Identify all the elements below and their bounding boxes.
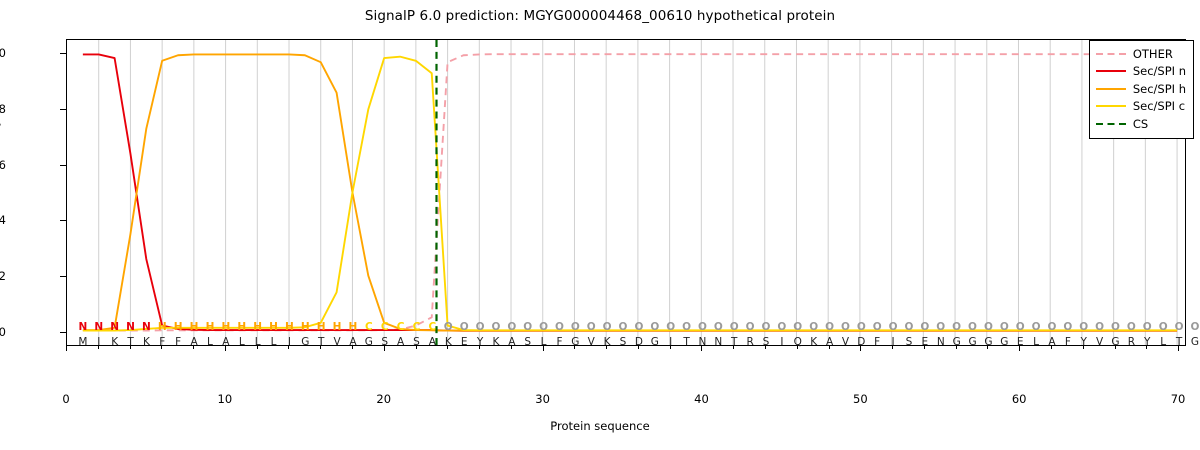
x-tick-mark — [1019, 346, 1020, 351]
sequence-region-marker: O — [777, 322, 786, 333]
sequence-residue: G — [984, 337, 992, 348]
x-minor-tick-mark — [924, 346, 925, 349]
sequence-region-marker: O — [793, 322, 802, 333]
sequence-residue: E — [922, 337, 929, 348]
sequence-region-marker: O — [920, 322, 929, 333]
sequence-region-marker: O — [889, 322, 898, 333]
x-minor-tick-mark — [765, 346, 766, 349]
x-minor-tick-mark — [416, 346, 417, 349]
sequence-region-marker: N — [78, 322, 87, 333]
sequence-region-marker: H — [285, 322, 294, 333]
sequence-residue: N — [699, 337, 707, 348]
sequence-residue: S — [620, 337, 627, 348]
sequence-region-marker: N — [94, 322, 103, 333]
y-tick-mark — [60, 53, 66, 54]
legend-item-label: OTHER — [1133, 47, 1173, 61]
sequence-residue: S — [413, 337, 420, 348]
sequence-region-marker: C — [381, 322, 389, 333]
sequence-residue: L — [239, 337, 245, 348]
sequence-residue: G — [365, 337, 373, 348]
sequence-region-marker: H — [333, 322, 342, 333]
x-minor-tick-mark — [447, 346, 448, 349]
sequence-region-marker: O — [1175, 322, 1184, 333]
sequence-residue: Q — [794, 337, 802, 348]
x-tick: 60 — [1012, 392, 1027, 406]
signalp-prediction-figure: SignalP 6.0 prediction: MGYG000004468_00… — [0, 0, 1200, 450]
sequence-region-marker: C — [429, 322, 437, 333]
x-minor-tick-mark — [956, 346, 957, 349]
sequence-residue: D — [857, 337, 865, 348]
sequence-region-marker: O — [1095, 322, 1104, 333]
sequence-residue: G — [1000, 337, 1008, 348]
sequence-region-marker: O — [619, 322, 628, 333]
sequence-residue: L — [207, 337, 213, 348]
sequence-residue: Y — [477, 337, 483, 348]
x-tick-mark — [701, 346, 702, 351]
sequence-region-marker: H — [253, 322, 262, 333]
sequence-residue: A — [429, 337, 436, 348]
sequence-residue: S — [381, 337, 388, 348]
sequence-residue: G — [301, 337, 309, 348]
sequence-residue: F — [874, 337, 880, 348]
sequence-residue: G — [1191, 337, 1199, 348]
sequence-residue: A — [349, 337, 356, 348]
x-minor-tick-mark — [892, 346, 893, 349]
sequence-region-marker: O — [1127, 322, 1136, 333]
legend-item-label: CS — [1133, 117, 1148, 131]
sequence-residue: S — [906, 337, 913, 348]
x-minor-tick-mark — [574, 346, 575, 349]
sequence-region-marker: O — [1111, 322, 1120, 333]
sequence-region-marker: O — [523, 322, 532, 333]
sequence-region-marker: O — [1047, 322, 1056, 333]
page-title: SignalP 6.0 prediction: MGYG000004468_00… — [0, 8, 1200, 24]
x-minor-tick-mark — [987, 346, 988, 349]
x-tick: 20 — [376, 392, 391, 406]
legend-item-label: Sec/SPI c — [1133, 99, 1185, 113]
sequence-region-marker: H — [174, 322, 183, 333]
legend-item-sec-spi-h[interactable]: Sec/SPI h — [1096, 80, 1186, 98]
sequence-region-marker: O — [1079, 322, 1088, 333]
sequence-region-marker: O — [539, 322, 548, 333]
sequence-residue: E — [1017, 337, 1024, 348]
x-minor-tick-mark — [288, 346, 289, 349]
sequence-residue: T — [318, 337, 324, 348]
sequence-residue: A — [222, 337, 229, 348]
sequence-residue: G — [968, 337, 976, 348]
sequence-region-marker: C — [365, 322, 373, 333]
sequence-region-marker: O — [762, 322, 771, 333]
sequence-region-marker: H — [158, 322, 167, 333]
y-tick: 0.4 — [0, 213, 6, 227]
sequence-residue: T — [1176, 337, 1182, 348]
sequence-region-marker: N — [126, 322, 135, 333]
sequence-residue: K — [445, 337, 452, 348]
x-minor-tick-mark — [670, 346, 671, 349]
sequence-residue: L — [255, 337, 261, 348]
x-minor-tick-mark — [638, 346, 639, 349]
sequence-residue: G — [651, 337, 659, 348]
sequence-region-marker: C — [413, 322, 421, 333]
x-tick: 10 — [218, 392, 233, 406]
x-minor-tick-mark — [606, 346, 607, 349]
x-tick-mark — [66, 346, 67, 351]
sequence-residue: N — [714, 337, 722, 348]
sequence-residue: V — [1096, 337, 1103, 348]
sequence-residue: V — [333, 337, 340, 348]
sequence-region-marker: O — [650, 322, 659, 333]
legend-color-swatch — [1096, 83, 1126, 95]
sequence-region-marker: O — [476, 322, 485, 333]
sequence-region-marker: O — [444, 322, 453, 333]
sequence-region-marker: H — [190, 322, 199, 333]
sequence-region-marker: N — [110, 322, 119, 333]
x-minor-tick-mark — [1083, 346, 1084, 349]
sequence-residue: R — [1128, 337, 1135, 348]
legend: OTHER Sec/SPI n Sec/SPI h Sec/SPI c CS — [1089, 40, 1194, 139]
sequence-region-marker: O — [1016, 322, 1025, 333]
sequence-residue: A — [397, 337, 404, 348]
sequence-region-marker: O — [714, 322, 723, 333]
sequence-residue: A — [190, 337, 197, 348]
sequence-region-marker: O — [698, 322, 707, 333]
x-minor-tick-mark — [797, 346, 798, 349]
x-minor-tick-mark — [1051, 346, 1052, 349]
sequence-residue: S — [524, 337, 531, 348]
legend-color-swatch — [1096, 65, 1126, 77]
sequence-residue: E — [461, 337, 468, 348]
y-tick: 0.6 — [0, 158, 6, 172]
sequence-residue: G — [953, 337, 961, 348]
sequence-region-marker: O — [682, 322, 691, 333]
sequence-residue: L — [1033, 337, 1039, 348]
sequence-residue: F — [1065, 337, 1071, 348]
x-tick-mark — [1178, 346, 1179, 351]
sequence-region-marker: H — [317, 322, 326, 333]
x-minor-tick-mark — [733, 346, 734, 349]
sequence-residue: T — [683, 337, 689, 348]
legend-item-label: Sec/SPI h — [1133, 82, 1186, 96]
x-tick: 50 — [853, 392, 868, 406]
x-tick-mark — [860, 346, 861, 351]
sequence-region-marker: H — [349, 322, 358, 333]
sequence-region-marker: O — [1159, 322, 1168, 333]
x-minor-tick-mark — [1146, 346, 1147, 349]
sequence-region-marker: O — [571, 322, 580, 333]
sequence-region-marker: O — [730, 322, 739, 333]
y-tick: 1.0 — [0, 46, 6, 60]
sequence-region-marker: O — [984, 322, 993, 333]
sequence-region-marker: O — [841, 322, 850, 333]
x-minor-tick-mark — [479, 346, 480, 349]
x-tick-mark — [543, 346, 544, 351]
x-minor-tick-mark — [98, 346, 99, 349]
sequence-residue: I — [780, 337, 783, 348]
legend-item-other[interactable]: OTHER — [1096, 45, 1186, 63]
sequence-residue: V — [842, 337, 849, 348]
sequence-residue: Y — [1081, 337, 1087, 348]
sequence-region-marker: O — [587, 322, 596, 333]
sequence-residue: L — [541, 337, 547, 348]
sequence-region-marker: O — [952, 322, 961, 333]
sequence-region-marker: O — [1143, 322, 1152, 333]
sequence-region-marker: O — [746, 322, 755, 333]
x-tick: 30 — [535, 392, 550, 406]
sequence-residue: T — [127, 337, 133, 348]
y-tick: 0.2 — [0, 269, 6, 283]
x-minor-tick-mark — [161, 346, 162, 349]
legend-item-label: Sec/SPI n — [1133, 64, 1186, 78]
sequence-residue: L — [271, 337, 277, 348]
x-minor-tick-mark — [257, 346, 258, 349]
sequence-residue: A — [1048, 337, 1055, 348]
sequence-residue: F — [556, 337, 562, 348]
sequence-region-marker: O — [460, 322, 469, 333]
sequence-region-marker: O — [809, 322, 818, 333]
sequence-region-marker: O — [1063, 322, 1072, 333]
sequence-residue: M — [78, 337, 87, 348]
sequence-residue: A — [826, 337, 833, 348]
sequence-region-marker: O — [825, 322, 834, 333]
sequence-residue: T — [731, 337, 737, 348]
x-tick-mark — [384, 346, 385, 351]
sequence-residue: K — [810, 337, 817, 348]
x-tick: 40 — [694, 392, 709, 406]
sequence-residue: G — [1111, 337, 1119, 348]
legend-item-cs[interactable]: CS — [1096, 115, 1186, 133]
x-tick: 70 — [1171, 392, 1186, 406]
x-minor-tick-mark — [1115, 346, 1116, 349]
legend-item-sec-spi-n[interactable]: Sec/SPI n — [1096, 63, 1186, 81]
legend-color-swatch — [1096, 48, 1126, 60]
sequence-residue: Y — [1144, 337, 1150, 348]
x-minor-tick-mark — [352, 346, 353, 349]
sequence-residue: K — [492, 337, 499, 348]
sequence-annotation-layer: NMNINKNTNKHFHFHAHLHAHLHLHLHIHGHTHVHACGCS… — [67, 40, 1185, 345]
legend-item-sec-spi-c[interactable]: Sec/SPI c — [1096, 98, 1186, 116]
x-minor-tick-mark — [130, 346, 131, 349]
x-tick-mark — [225, 346, 226, 351]
legend-color-swatch — [1096, 118, 1126, 130]
sequence-region-marker: C — [397, 322, 405, 333]
sequence-region-marker: H — [237, 322, 246, 333]
sequence-region-marker: O — [1000, 322, 1009, 333]
sequence-residue: D — [635, 337, 643, 348]
sequence-residue: G — [571, 337, 579, 348]
sequence-region-marker: O — [936, 322, 945, 333]
x-minor-tick-mark — [320, 346, 321, 349]
sequence-region-marker: O — [555, 322, 564, 333]
sequence-region-marker: N — [142, 322, 151, 333]
plot-area: NMNINKNTNKHFHFHAHLHAHLHLHLHIHGHTHVHACGCS… — [66, 39, 1186, 346]
y-tick: 0.0 — [0, 325, 6, 339]
x-axis-label: Protein sequence — [0, 419, 1200, 433]
y-tick-mark — [60, 220, 66, 221]
y-tick-mark — [60, 165, 66, 166]
sequence-residue: F — [159, 337, 165, 348]
sequence-residue: L — [1160, 337, 1166, 348]
sequence-region-marker: O — [905, 322, 914, 333]
sequence-region-marker: H — [221, 322, 230, 333]
x-minor-tick-mark — [193, 346, 194, 349]
y-tick: 0.8 — [0, 102, 6, 116]
sequence-residue: R — [746, 337, 753, 348]
sequence-region-marker: O — [1190, 322, 1199, 333]
sequence-region-marker: H — [301, 322, 310, 333]
sequence-region-marker: O — [968, 322, 977, 333]
sequence-region-marker: O — [603, 322, 612, 333]
sequence-residue: N — [937, 337, 945, 348]
sequence-residue: K — [143, 337, 150, 348]
sequence-region-marker: O — [666, 322, 675, 333]
sequence-region-marker: O — [634, 322, 643, 333]
legend-color-swatch — [1096, 100, 1126, 112]
sequence-region-marker: O — [873, 322, 882, 333]
x-minor-tick-mark — [511, 346, 512, 349]
sequence-residue: K — [111, 337, 118, 348]
y-tick-mark — [60, 276, 66, 277]
sequence-region-marker: O — [507, 322, 516, 333]
sequence-region-marker: O — [857, 322, 866, 333]
sequence-region-marker: O — [1032, 322, 1041, 333]
sequence-region-marker: H — [269, 322, 278, 333]
sequence-region-marker: H — [206, 322, 215, 333]
x-minor-tick-mark — [829, 346, 830, 349]
sequence-residue: S — [763, 337, 770, 348]
sequence-residue: A — [508, 337, 515, 348]
sequence-residue: K — [604, 337, 611, 348]
y-tick-mark — [60, 109, 66, 110]
sequence-residue: V — [588, 337, 595, 348]
sequence-residue: F — [175, 337, 181, 348]
sequence-region-marker: O — [491, 322, 500, 333]
y-tick-mark — [60, 332, 66, 333]
x-tick: 0 — [62, 392, 69, 406]
